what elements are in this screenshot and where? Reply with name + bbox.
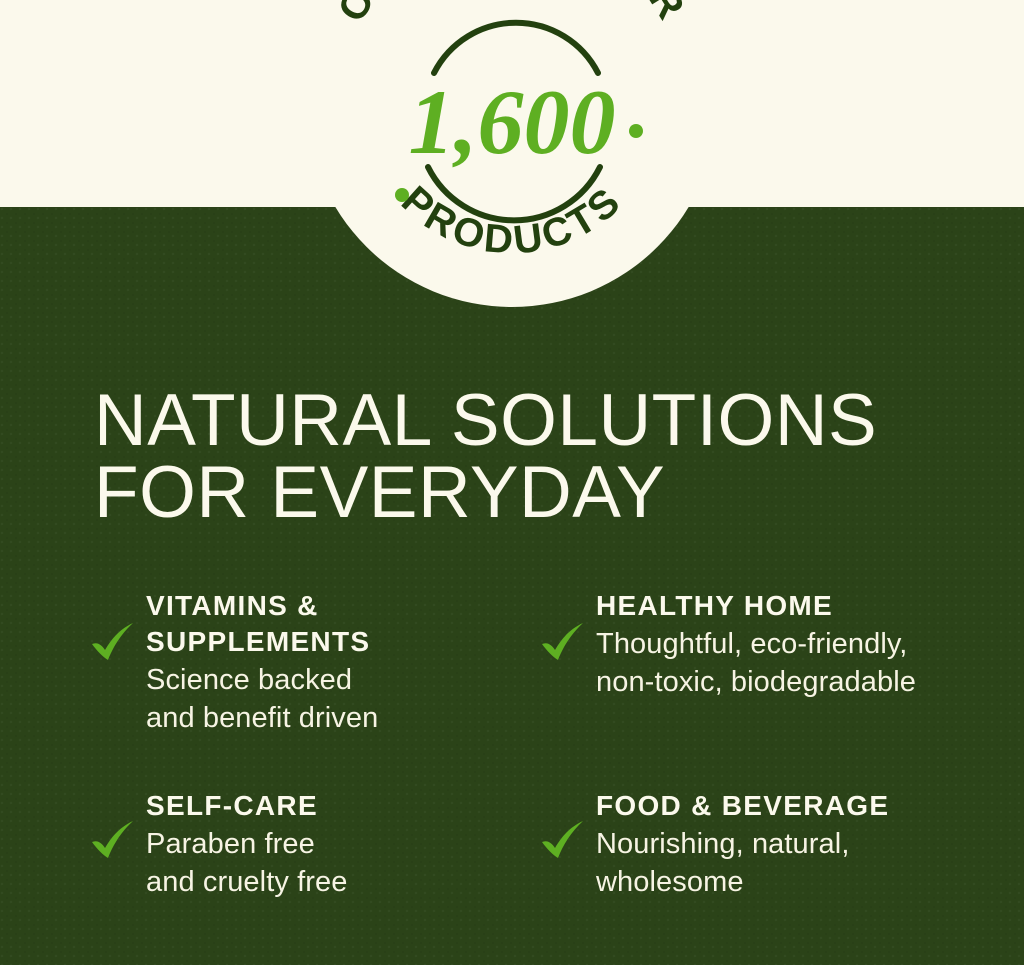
feature-desc-line: wholesome xyxy=(596,863,982,901)
feature-title: VITAMINS & SUPPLEMENTS xyxy=(146,588,532,660)
headline-line-1: NATURAL SOLUTIONS xyxy=(94,385,974,457)
feature-body: HEALTHY HOME Thoughtful, eco-friendly, n… xyxy=(596,588,982,701)
check-icon xyxy=(90,622,136,662)
feature-desc-line: and benefit driven xyxy=(146,699,532,737)
badge-arc-top-decoration xyxy=(434,23,598,73)
check-icon-wrap xyxy=(540,788,596,860)
feature-title-line: VITAMINS & xyxy=(146,590,319,621)
promo-poster: OFFERING OVER PRODUCTS 1,600 NATURAL SOL… xyxy=(0,0,1024,965)
feature-body: FOOD & BEVERAGE Nourishing, natural, who… xyxy=(596,788,982,901)
feature-body: SELF-CARE Paraben free and cruelty free xyxy=(146,788,532,901)
feature-description: Thoughtful, eco-friendly, non-toxic, bio… xyxy=(596,625,982,702)
offering-over-badge: OFFERING OVER PRODUCTS 1,600 xyxy=(306,0,718,307)
check-icon xyxy=(540,622,586,662)
check-icon xyxy=(90,820,136,860)
feature-description: Science backed and benefit driven xyxy=(146,661,532,738)
feature-item-vitamins-supplements: VITAMINS & SUPPLEMENTS Science backed an… xyxy=(90,588,540,788)
feature-title-line: FOOD & BEVERAGE xyxy=(596,790,889,821)
badge-graphic: OFFERING OVER PRODUCTS 1,600 xyxy=(306,0,718,307)
badge-dot-right-icon xyxy=(629,124,643,138)
feature-desc-line: Science backed xyxy=(146,661,532,699)
feature-title-line: SELF-CARE xyxy=(146,790,318,821)
page-title: NATURAL SOLUTIONS FOR EVERYDAY xyxy=(94,385,974,530)
feature-item-self-care: SELF-CARE Paraben free and cruelty free xyxy=(90,788,540,901)
feature-title: FOOD & BEVERAGE xyxy=(596,788,982,824)
feature-title: SELF-CARE xyxy=(146,788,532,824)
feature-list: VITAMINS & SUPPLEMENTS Science backed an… xyxy=(90,588,990,901)
feature-desc-line: non-toxic, biodegradable xyxy=(596,663,982,701)
feature-desc-line: and cruelty free xyxy=(146,863,532,901)
check-icon-wrap xyxy=(540,588,596,662)
feature-item-healthy-home: HEALTHY HOME Thoughtful, eco-friendly, n… xyxy=(540,588,990,788)
feature-desc-line: Thoughtful, eco-friendly, xyxy=(596,625,982,663)
feature-item-food-beverage: FOOD & BEVERAGE Nourishing, natural, who… xyxy=(540,788,990,901)
feature-description: Paraben free and cruelty free xyxy=(146,825,532,902)
feature-title-line: SUPPLEMENTS xyxy=(146,626,370,657)
feature-description: Nourishing, natural, wholesome xyxy=(596,825,982,902)
check-icon xyxy=(540,820,586,860)
feature-body: VITAMINS & SUPPLEMENTS Science backed an… xyxy=(146,588,532,737)
feature-title: HEALTHY HOME xyxy=(596,588,982,624)
badge-product-count: 1,600 xyxy=(409,71,616,173)
check-icon-wrap xyxy=(90,588,146,662)
headline-line-2: FOR EVERYDAY xyxy=(94,457,974,529)
feature-desc-line: Paraben free xyxy=(146,825,532,863)
check-icon-wrap xyxy=(90,788,146,860)
badge-dot-left-icon xyxy=(395,188,409,202)
feature-title-line: HEALTHY HOME xyxy=(596,590,833,621)
feature-desc-line: Nourishing, natural, xyxy=(596,825,982,863)
